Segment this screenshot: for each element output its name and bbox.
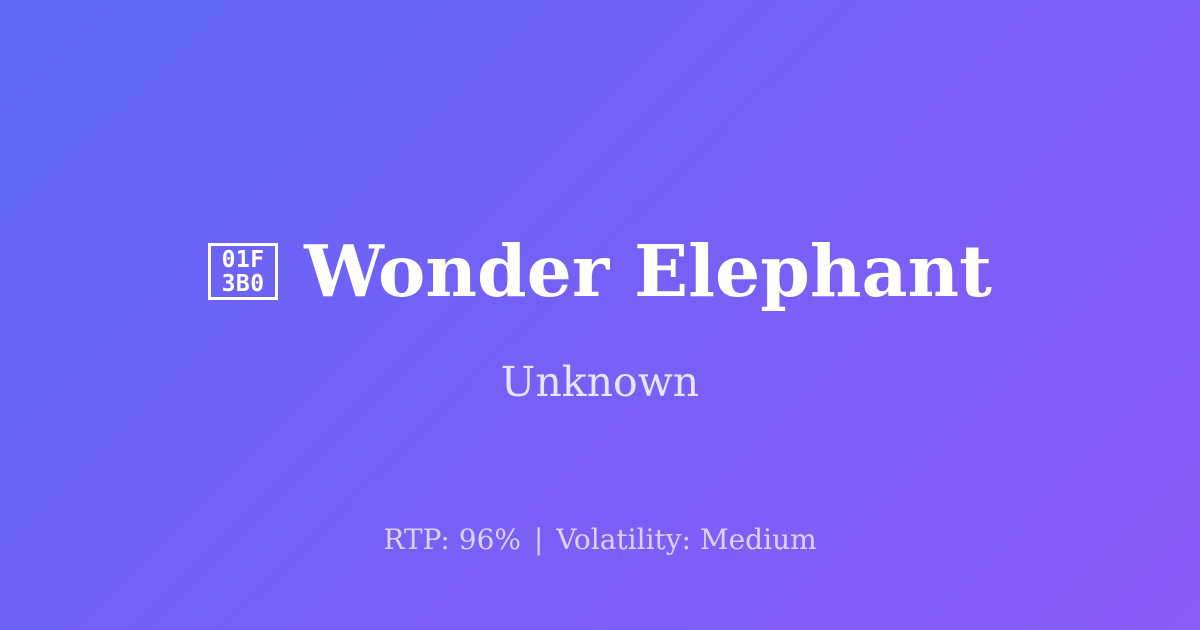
slot-machine-icon-codepoint-hi: 01F	[222, 248, 265, 272]
game-provider-label: Unknown	[0, 362, 1200, 403]
slot-machine-icon: 01F 3B0	[208, 243, 278, 300]
slot-machine-icon-codepoint-lo: 3B0	[222, 272, 265, 296]
game-stats-line: RTP: 96% | Volatility: Medium	[0, 526, 1200, 554]
stats-separator: |	[530, 523, 547, 556]
page-title: Wonder Elephant	[304, 236, 992, 307]
rtp-stat: RTP: 96%	[383, 523, 521, 556]
title-row: 01F 3B0 Wonder Elephant	[0, 236, 1200, 307]
game-og-card: 01F 3B0 Wonder Elephant Unknown RTP: 96%…	[0, 0, 1200, 630]
volatility-stat: Volatility: Medium	[556, 523, 816, 556]
